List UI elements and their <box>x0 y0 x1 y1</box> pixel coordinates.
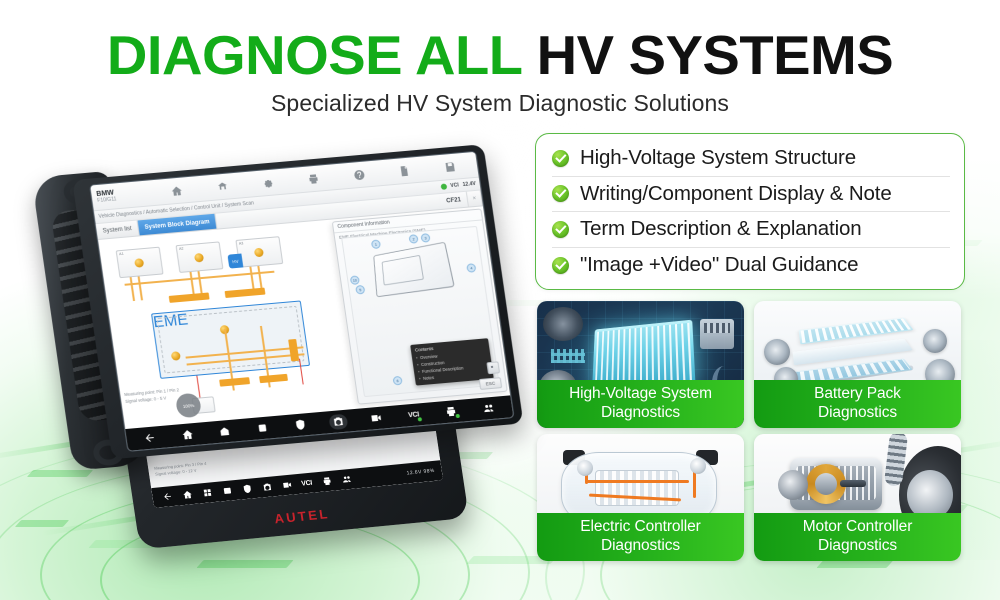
home-icon[interactable] <box>177 426 197 442</box>
tablet-bezel: BMW F10/G11 <box>89 151 515 452</box>
callout-marker[interactable]: 10 <box>350 275 360 285</box>
diagram-bus <box>259 374 288 383</box>
block-diagram-canvas[interactable]: A1 A2 A3 <box>98 206 510 429</box>
check-circle-icon <box>552 257 569 274</box>
feature-label: High-Voltage System Structure <box>580 146 856 170</box>
close-icon[interactable]: × <box>467 190 483 206</box>
card-label-line2: Diagnostics <box>541 537 740 556</box>
diagram-bus <box>219 377 250 387</box>
shield-icon[interactable] <box>290 417 310 433</box>
video-icon[interactable] <box>278 478 295 492</box>
hv-cable <box>585 480 689 483</box>
feature-list: High-Voltage System Structure Writing/Co… <box>535 133 965 290</box>
diagram-node-label: A1 <box>119 252 124 256</box>
print-icon[interactable] <box>304 169 323 187</box>
diagram-wire <box>249 267 254 291</box>
steering-wheel-graphic <box>543 307 583 341</box>
feature-label: Term Description & Explanation <box>580 217 862 241</box>
drive-shaft-graphic <box>840 480 866 487</box>
esc-button[interactable]: ESC <box>479 377 503 390</box>
card-label: Electric Controller Diagnostics <box>537 513 744 561</box>
tech-dash <box>816 560 893 568</box>
callout-marker[interactable]: 6 <box>392 376 402 386</box>
back-icon[interactable] <box>140 430 160 446</box>
callout-marker[interactable]: 5 <box>355 285 365 295</box>
diagram-wire <box>130 277 135 301</box>
back-icon[interactable] <box>159 489 176 503</box>
battery-status-label: 12.4V <box>462 181 476 188</box>
vci-icon[interactable]: VCI <box>404 407 424 423</box>
vehicle-info: BMW F10/G11 <box>91 187 151 205</box>
printer-icon[interactable] <box>318 474 335 488</box>
card-label-line2: Diagnostics <box>541 404 740 423</box>
status-readout-secondary: 12.6V 98% <box>406 468 435 477</box>
card-label: Battery Pack Diagnostics <box>754 380 961 428</box>
hv-battery-graphic <box>592 320 695 389</box>
headline-green: DIAGNOSE ALL <box>107 24 522 86</box>
diagram-bus <box>169 292 210 302</box>
component-info-panel: Component Information EME Electrical Mac… <box>332 208 508 404</box>
users-icon[interactable] <box>479 400 499 416</box>
diagram-side-tag[interactable]: HV <box>227 254 243 269</box>
callout-marker[interactable]: 4 <box>466 263 476 273</box>
settings-icon[interactable] <box>258 173 277 191</box>
component-3d-drawing <box>373 242 455 298</box>
page-subtitle: Specialized HV System Diagnostic Solutio… <box>0 90 1000 117</box>
home-icon[interactable] <box>167 181 186 199</box>
controller-node <box>690 458 706 474</box>
vci-status-dot <box>418 417 423 421</box>
camera-icon[interactable] <box>328 413 348 429</box>
apps-icon[interactable] <box>199 486 216 500</box>
report-icon[interactable] <box>395 161 414 179</box>
feature-label: "Image +Video" Dual Guidance <box>580 253 858 277</box>
callout-marker[interactable]: 2 <box>408 234 418 244</box>
headline-dark: HV SYSTEMS <box>537 24 894 86</box>
printer-icon[interactable] <box>441 403 461 419</box>
tablet-body: BMW F10/G11 <box>72 144 523 459</box>
diagram-wire <box>257 266 262 290</box>
feature-label: Writing/Component Display & Note <box>580 182 892 206</box>
card-label-line2: Diagnostics <box>758 537 957 556</box>
diagram-wire-signal <box>196 376 201 398</box>
card-label-line1: Battery Pack <box>758 385 957 404</box>
tech-dash <box>27 470 93 477</box>
status-group: VCI 12.4V <box>440 181 476 190</box>
window-icon[interactable] <box>253 420 273 436</box>
tablet-primary: BMW F10/G11 <box>38 142 528 466</box>
check-circle-icon <box>552 185 569 202</box>
callout-marker[interactable]: 1 <box>371 239 381 249</box>
tab-code[interactable]: CF21 <box>439 192 469 209</box>
vci-icon[interactable]: VCI <box>298 476 315 490</box>
users-icon[interactable] <box>338 472 355 486</box>
card-motor-controller[interactable]: Motor Controller Diagnostics <box>754 434 961 561</box>
motor-hub-graphic <box>778 470 808 500</box>
apps-icon[interactable] <box>215 423 235 439</box>
measurement-note: Measuring point: Pin 1 / Pin 2 Signal vo… <box>124 388 180 405</box>
card-electric-controller[interactable]: Electric Controller Diagnostics <box>537 434 744 561</box>
camera-icon[interactable] <box>258 480 275 494</box>
diagram-bus <box>225 288 266 298</box>
poster-canvas: DIAGNOSE ALL HV SYSTEMS Specialized HV S… <box>0 0 1000 600</box>
card-label: High-Voltage System Diagnostics <box>537 380 744 428</box>
check-circle-icon <box>552 221 569 238</box>
diagram-node-label: A3 <box>239 241 244 245</box>
wheel-graphic <box>923 329 947 353</box>
tech-dash <box>196 560 293 568</box>
diagram-wire <box>189 272 194 296</box>
grid-toggle-button[interactable] <box>486 361 500 374</box>
vci-status-label: VCI <box>450 182 459 189</box>
feature-item: "Image +Video" Dual Guidance <box>552 248 950 284</box>
feature-item: Writing/Component Display & Note <box>552 177 950 213</box>
card-label-line1: Motor Controller <box>758 518 957 537</box>
feature-item: High-Voltage System Structure <box>552 141 950 177</box>
controller-node <box>577 460 593 476</box>
hv-data-dots <box>551 349 585 363</box>
connection-status-dot <box>440 183 447 189</box>
shield-icon[interactable] <box>238 482 255 496</box>
save-icon[interactable] <box>440 157 459 175</box>
window-icon[interactable] <box>218 484 235 498</box>
feature-item: Term Description & Explanation <box>552 212 950 248</box>
help-icon[interactable] <box>349 165 368 183</box>
tech-dash <box>15 520 69 527</box>
home-icon[interactable] <box>179 488 196 502</box>
component-illustration[interactable]: 1 2 3 4 5 10 6 7 Contents Overview <box>341 226 500 397</box>
printer-status-dot <box>456 413 461 417</box>
video-icon[interactable] <box>366 410 386 426</box>
diagram-note-secondary: Measuring point: Pin 3 / Pin 4 Signal vo… <box>154 461 208 478</box>
card-label-line2: Diagnostics <box>758 404 957 423</box>
diagnostic-app: BMW F10/G11 <box>90 152 513 451</box>
vehicle-icon[interactable] <box>212 177 231 195</box>
callout-marker[interactable]: 3 <box>420 233 430 243</box>
diagram-wire <box>197 271 202 295</box>
hv-module-graphic <box>700 319 734 349</box>
check-circle-icon <box>552 150 569 167</box>
card-high-voltage-system[interactable]: High-Voltage System Diagnostics <box>537 301 744 428</box>
page-title: DIAGNOSE ALL HV SYSTEMS <box>0 27 1000 83</box>
card-label-line1: High-Voltage System <box>541 385 740 404</box>
diagram-wire <box>138 276 143 300</box>
wheel-graphic <box>764 339 790 365</box>
card-label: Motor Controller Diagnostics <box>754 513 961 561</box>
card-battery-pack[interactable]: Battery Pack Diagnostics <box>754 301 961 428</box>
diagram-node-label: A2 <box>179 247 184 251</box>
card-label-line1: Electric Controller <box>541 518 740 537</box>
